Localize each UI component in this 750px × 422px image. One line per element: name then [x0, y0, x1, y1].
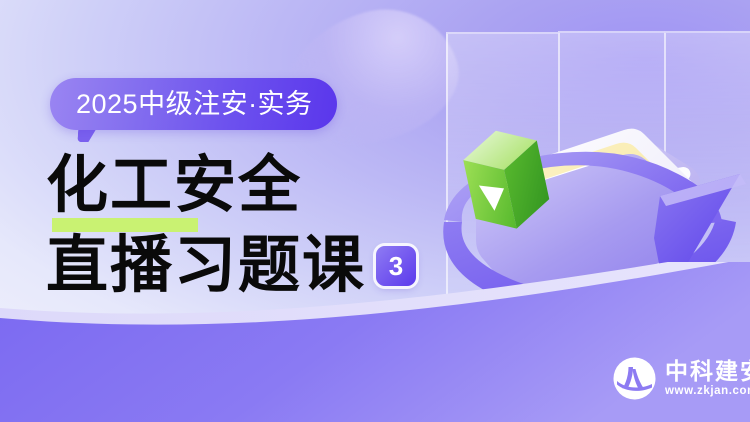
headline-line-2-text: 直播习题课 [46, 232, 366, 300]
brand-text: 中科建安 www.zkjan.com [665, 359, 750, 398]
headline-line-2: 直播习题课 3 [46, 232, 466, 300]
brand-logo: 中科建安 www.zkjan.com [613, 357, 750, 400]
course-tag-label: 2025中级注安·实务 [76, 91, 313, 118]
brand-url: www.zkjan.com [665, 384, 750, 398]
zkjan-circle-swoosh-icon [613, 357, 656, 400]
headline-line-1-text: 化工安全 [46, 152, 302, 220]
course-banner: 2025中级注安·实务 化工安全 直播习题课 3 中科建安 www.zk [0, 0, 750, 422]
course-tag: 2025中级注安·实务 [50, 78, 337, 130]
episode-badge: 3 [376, 246, 416, 286]
headline-line-1: 化工安全 [46, 152, 466, 220]
headline-highlight [52, 218, 198, 232]
brand-name: 中科建安 [665, 359, 750, 384]
text-block: 2025中级注安·实务 化工安全 直播习题课 3 [0, 0, 460, 422]
headline: 化工安全 直播习题课 3 [46, 152, 466, 300]
